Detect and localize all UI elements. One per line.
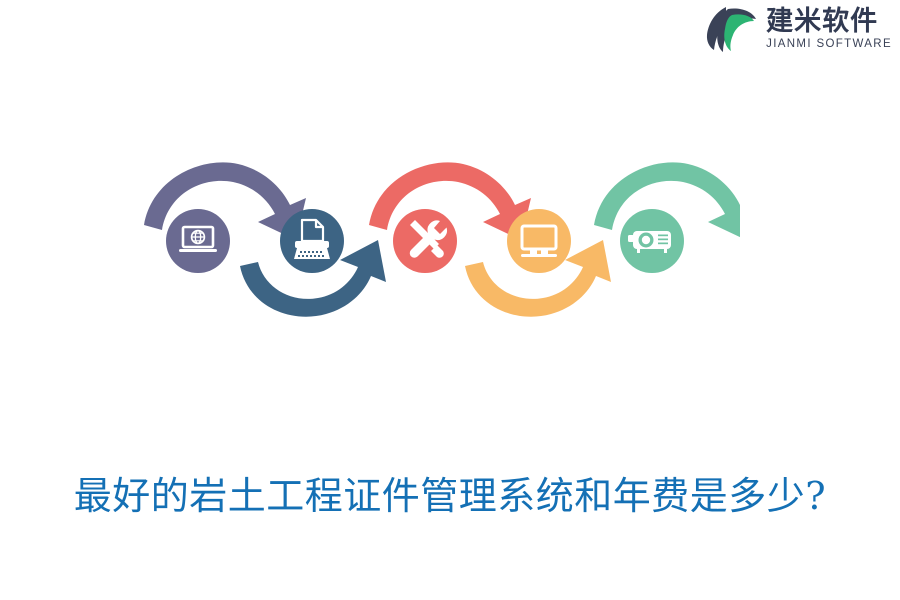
brand-name-en: JIANMI SOFTWARE	[766, 39, 892, 51]
brand-name-cn: 建米软件	[766, 8, 892, 36]
process-step-2	[280, 209, 344, 273]
process-step-5	[620, 209, 684, 273]
process-step-1	[166, 209, 230, 273]
step-4-circle	[507, 209, 571, 273]
process-step-3	[393, 209, 457, 273]
process-step-4	[507, 209, 571, 273]
jianmi-leaf-logo-icon	[706, 5, 758, 53]
page-title: 最好的岩土工程证件管理系统和年费是多少?	[0, 465, 900, 520]
brand-text-block: 建米软件 JIANMI SOFTWARE	[766, 8, 892, 51]
brand-logo: 建米软件 JIANMI SOFTWARE	[706, 0, 892, 58]
process-cycle-graphic	[130, 148, 740, 338]
